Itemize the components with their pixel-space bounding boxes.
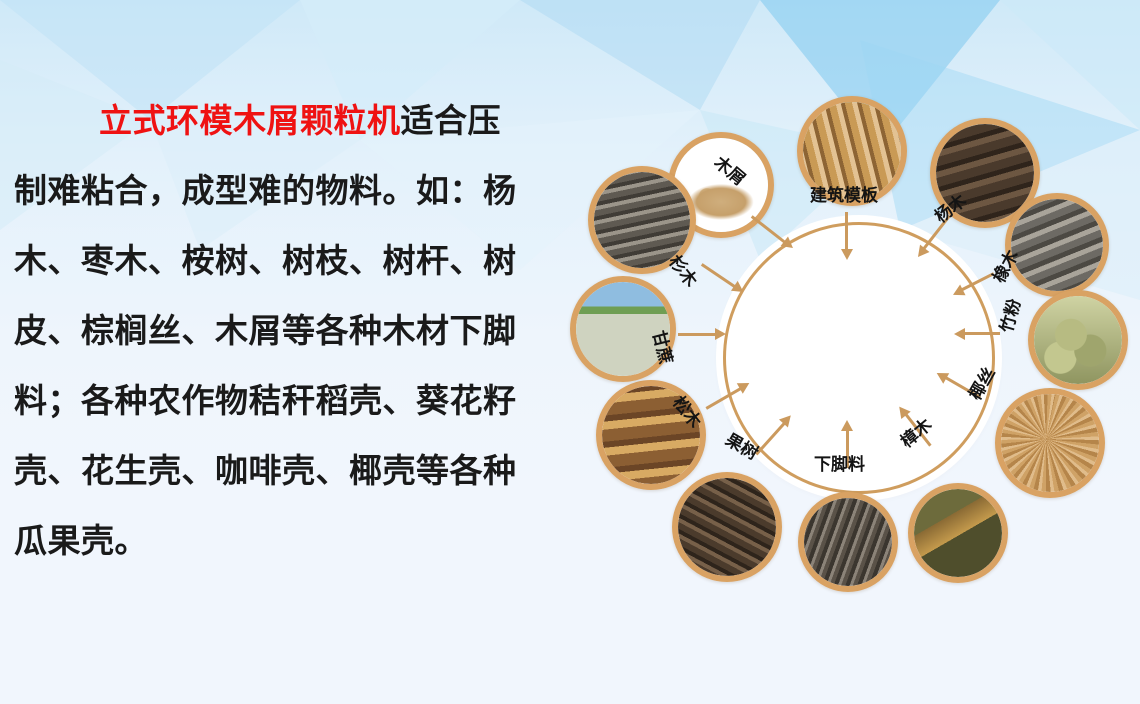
material-node-coconut-fiber[interactable] <box>995 388 1105 498</box>
arrow-sawdust <box>748 211 796 252</box>
body-line-3: 皮、棕榈丝、木屑等各种木材下脚 <box>14 296 586 366</box>
material-label-bamboo-powder: 竹粉 <box>992 295 1025 335</box>
body-line-4: 料；各种农作物秸秆稻壳、葵花籽 <box>14 366 586 436</box>
camphor-wood-image <box>914 489 1002 577</box>
material-node-offcuts[interactable] <box>798 492 898 592</box>
product-name-highlight: 立式环模木屑颗粒机 <box>99 102 401 139</box>
arrow-sugarcane <box>678 328 726 340</box>
material-node-oak[interactable] <box>1005 193 1109 297</box>
coconut-fiber-image <box>1001 394 1099 492</box>
offcuts-image <box>804 498 892 586</box>
arrow-bamboo <box>954 328 1000 340</box>
material-node-fruit-tree[interactable] <box>672 472 782 582</box>
description-block: 立式环模木屑颗粒机适合压 制难粘合，成型难的物料。如：杨 木、枣木、桉树、树枝、… <box>0 86 600 576</box>
body-line-5: 壳、花生壳、咖啡壳、椰壳等各种 <box>14 436 586 506</box>
bamboo-powder-image <box>1034 296 1122 384</box>
raw-material-diagram: 木屑建筑模板杨木橡木竹粉椰丝樟木下脚料果树松木甘蔗杉木 <box>560 40 1140 704</box>
material-node-camphor-wood[interactable] <box>908 483 1008 583</box>
oak-image <box>1011 199 1103 291</box>
poster-canvas: 立式环模木屑颗粒机适合压 制难粘合，成型难的物料。如：杨 木、枣木、桉树、树枝、… <box>0 0 1140 704</box>
body-line-1: 制难粘合，成型难的物料。如：杨 <box>14 156 586 226</box>
arrow-formwork <box>841 212 853 260</box>
material-node-bamboo-powder[interactable] <box>1028 290 1128 390</box>
headline-rest: 适合压 <box>401 102 502 139</box>
material-label-offcuts: 下脚料 <box>814 450 865 475</box>
headline-line: 立式环模木屑颗粒机适合压 <box>14 86 586 156</box>
body-line-6: 瓜果壳。 <box>14 506 586 576</box>
fruit-tree-image <box>678 478 776 576</box>
material-label-construction-formwork: 建筑模板 <box>810 181 878 206</box>
material-node-sugarcane[interactable] <box>570 276 676 382</box>
body-line-2: 木、枣木、桉树、树枝、树杆、树 <box>14 226 586 296</box>
arrow-chinafir <box>699 259 747 297</box>
